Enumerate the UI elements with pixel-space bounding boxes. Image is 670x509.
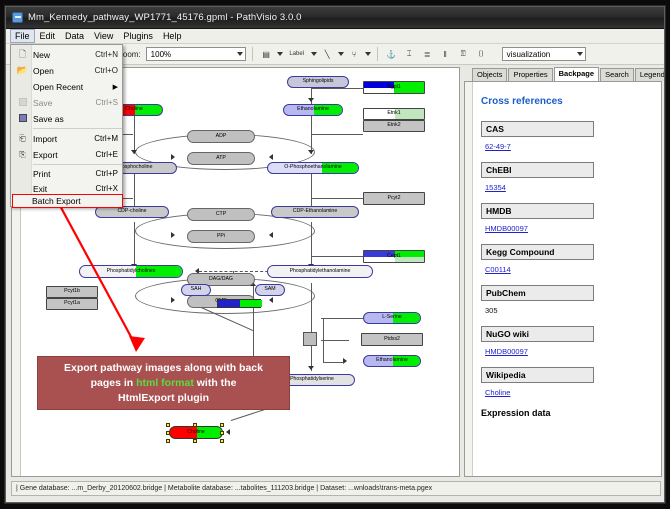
menu-separator-2 [33,164,122,165]
anchor-icon[interactable]: ⚓ [384,47,399,62]
callout-line1: Export pathway images along with back [64,362,263,374]
side-panel: Objects Properties Backpage Search Legen… [464,67,662,477]
xref-link-cas[interactable]: 62-49-7 [485,142,511,151]
menu-open-label: Open [33,66,95,76]
side-panel-rail [465,82,473,476]
tab-search[interactable]: Search [600,68,634,81]
arrow-left-choline-selected [226,429,230,435]
menu-plugins[interactable]: Plugins [118,29,158,43]
menu-exit-label: Exit [33,184,96,194]
selection-handle-nw[interactable] [166,423,170,427]
menu-bar: File Edit Data View Plugins Help [6,29,664,44]
side-panel-tabs: Objects Properties Backpage Search Legen… [464,67,662,81]
submenu-arrow-icon: ▶ [113,83,123,91]
chevron-down-icon-2 [577,52,583,56]
status-bar: | Gene database: ...m_Derby_20120602.bri… [11,481,661,496]
tab-objects[interactable]: Objects [472,68,507,81]
export-icon: ⎘ [12,150,33,160]
menu-print-shortcut: Ctrl+P [96,169,123,178]
xref-value-kegg[interactable]: C00114 [485,265,653,274]
selection-handle-se[interactable] [220,439,224,443]
menu-save-as-label: Save as [33,114,123,124]
datanode-icon[interactable]: ▤ [259,47,274,62]
menu-new-shortcut: Ctrl+N [95,50,123,59]
line-icon[interactable]: ╲ [320,47,335,62]
xref-link-chebi[interactable]: 15354 [485,183,506,192]
visualization-value: visualization [507,50,551,59]
title-bar: Mm_Kennedy_pathway_WP1771_45176.gpml - P… [6,7,664,29]
callout-line2-highlight: html format [136,377,194,389]
xref-link-kegg[interactable]: C00114 [485,265,511,274]
xref-value-cas[interactable]: 62-49-7 [485,142,653,151]
selection-handle-n[interactable] [193,423,197,427]
menu-print[interactable]: Print Ctrl+P [12,166,123,181]
xref-value-pubchem: 305 [485,306,653,315]
selection-handle-ne[interactable] [220,423,224,427]
save-as-icon [12,114,33,124]
xref-value-wikipedia[interactable]: Choline [485,388,653,397]
menu-import[interactable]: ⎗ Import Ctrl+M [12,131,123,146]
cross-references-heading: Cross references [481,96,653,107]
xref-header-kegg: Kegg Compound [481,244,594,260]
line-dropdown-icon[interactable] [338,52,344,56]
menu-new-label: New [33,50,95,60]
align-stack-icon[interactable]: ≣ [420,47,435,62]
expression-data-heading: Expression data [481,408,653,418]
menu-help[interactable]: Help [158,29,187,43]
file-menu-popup[interactable]: 🗋 New Ctrl+N 📂 Open Ctrl+O Open Recent ▶… [10,44,123,207]
align-bottom-icon[interactable]: ⍔ [456,47,471,62]
annotation-callout: Export pathway images along with back pa… [37,356,290,410]
menu-import-shortcut: Ctrl+M [94,134,123,143]
menu-separator-1 [33,128,122,129]
menu-print-label: Print [33,169,96,179]
align-center-icon[interactable]: ‖ [438,47,453,62]
anchor-box[interactable] [303,332,317,346]
zoom-value: 100% [151,50,171,59]
tab-legend[interactable]: Legend [635,68,665,81]
menu-view[interactable]: View [89,29,118,43]
menu-export-label: Export [33,150,96,160]
label-dropdown-icon[interactable] [311,52,317,56]
menu-exit-shortcut: Ctrl+X [96,184,123,193]
xref-value-nugo[interactable]: HMDB00097 [485,347,653,356]
new-file-icon: 🗋 [12,47,33,63]
menu-export[interactable]: ⎘ Export Ctrl+E [12,147,123,162]
menu-save-as[interactable]: Save as [12,111,123,126]
xref-header-nugo: NuGO wiki [481,326,594,342]
menu-open[interactable]: 📂 Open Ctrl+O [12,63,123,78]
callout-line2-pre: pages in [91,377,137,389]
chevron-down-icon [237,52,243,56]
toolbar-separator-2 [377,47,378,61]
folder-icon: 📂 [12,65,33,76]
tab-properties[interactable]: Properties [508,68,552,81]
interaction-dropdown-icon[interactable] [365,52,371,56]
xref-header-pubchem: PubChem [481,285,594,301]
xref-value-hmdb[interactable]: HMDB00097 [485,224,653,233]
align-left-icon[interactable]: ⌶ [402,47,417,62]
xref-header-hmdb: HMDB [481,203,594,219]
menu-edit[interactable]: Edit [35,29,61,43]
menu-batch-export[interactable]: Batch Export [12,194,123,208]
menu-import-label: Import [33,134,94,144]
menu-open-shortcut: Ctrl+O [95,66,123,75]
selection-handle-e[interactable] [220,431,224,435]
selection-handle-w[interactable] [166,431,170,435]
menu-save-label: Save [33,98,96,108]
interaction-icon[interactable]: ⑂ [347,47,362,62]
selection-handle-s[interactable] [193,439,197,443]
visualization-combo[interactable]: visualization [502,47,586,61]
menu-open-recent-label: Open Recent [33,82,113,92]
status-bar-text: | Gene database: ...m_Derby_20120602.bri… [16,485,432,492]
menu-new[interactable]: 🗋 New Ctrl+N [12,47,123,62]
backpage-content: Cross references CAS 62-49-7 ChEBI 15354… [464,81,662,477]
callout-line2-post: with the [194,377,237,389]
save-icon [12,98,33,108]
zoom-combo[interactable]: 100% [146,47,246,61]
menu-save-shortcut: Ctrl+S [96,98,123,107]
menu-batch-export-label: Batch Export [32,196,122,206]
pathvisio-icon [12,12,23,23]
screenshot-root: Mm_Kennedy_pathway_WP1771_45176.gpml - P… [0,0,670,509]
menu-data[interactable]: Data [60,29,89,43]
menu-open-recent[interactable]: Open Recent ▶ [12,79,123,94]
xref-link-wikipedia[interactable]: Choline [485,388,510,397]
xref-link-hmdb[interactable]: HMDB00097 [485,224,528,233]
callout-line3: HtmlExport plugin [118,392,209,404]
xref-value-chebi[interactable]: 15354 [485,183,653,192]
xref-header-cas: CAS [481,121,594,137]
menu-export-shortcut: Ctrl+E [96,150,123,159]
menu-save: Save Ctrl+S [12,95,123,110]
toolbar-separator [252,47,253,61]
align-right-icon[interactable]: ⌷ [474,47,489,62]
pathvisio-window: Mm_Kennedy_pathway_WP1771_45176.gpml - P… [5,6,665,503]
window-title: Mm_Kennedy_pathway_WP1771_45176.gpml - P… [28,12,302,23]
label-icon[interactable]: Label [286,47,308,62]
import-icon: ⎗ [12,134,33,144]
xref-header-wikipedia: Wikipedia [481,367,594,383]
datanode-dropdown-icon[interactable] [277,52,283,56]
xref-link-nugo[interactable]: HMDB00097 [485,347,528,356]
selection-handle-sw[interactable] [166,439,170,443]
tab-backpage[interactable]: Backpage [554,67,599,81]
xref-header-chebi: ChEBI [481,162,594,178]
menu-file[interactable]: File [10,29,35,43]
node-choline-selected[interactable]: Choline [169,426,223,439]
